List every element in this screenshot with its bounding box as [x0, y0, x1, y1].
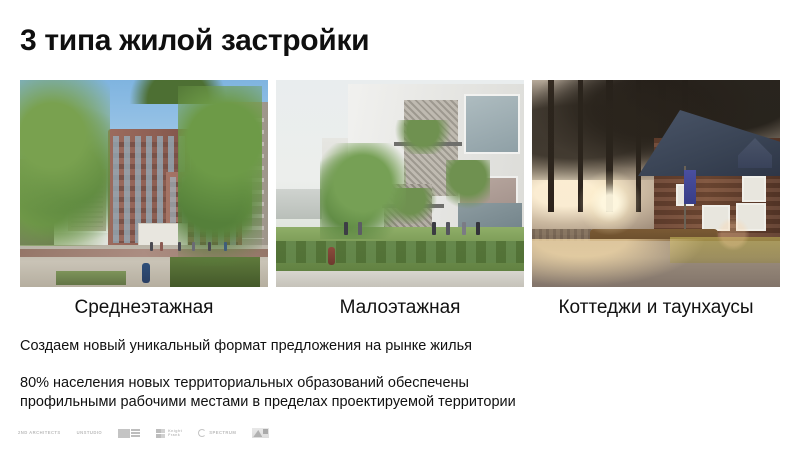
partner-logo-label-line-2: Frank: [168, 433, 182, 438]
partner-logo-knight-frank: Knight Frank: [156, 429, 182, 438]
housing-card-caption: Коттеджи и таунхаусы: [532, 296, 780, 320]
partner-logo-label: SPECTRUM: [209, 430, 236, 436]
housing-card-caption: Среднеэтажная: [20, 296, 268, 320]
partner-logo-strip: 2ND ARCHITECTS UNSTUDIO Knight Frank SPE…: [18, 426, 269, 440]
blocks-mark-icon: [118, 429, 140, 438]
partner-logo-spectrum: SPECTRUM: [198, 429, 236, 437]
sunlight-on-road: [532, 239, 706, 287]
housing-card-low-rise[interactable]: Малоэтажная: [276, 80, 524, 320]
housing-photo-cottages: [532, 80, 780, 287]
partner-logo-dark-square: [252, 428, 269, 438]
partner-logo-label: 2ND ARCHITECTS: [18, 430, 61, 436]
page-title: 3 типа жилой застройки: [20, 22, 369, 60]
dark-square-mark-icon: [252, 428, 269, 438]
body-lead-paragraph: Создаем новый уникальный формат предложе…: [20, 337, 720, 356]
pedestrian: [446, 222, 450, 235]
cottage-window: [742, 176, 766, 202]
pedestrian: [208, 242, 211, 251]
partner-logo-unstudio: UNSTUDIO: [77, 430, 102, 436]
tree-left: [20, 80, 110, 246]
pedestrian: [160, 242, 163, 251]
partner-logo-blocks: [118, 429, 140, 438]
pedestrian: [432, 222, 436, 235]
pedestrian: [344, 222, 348, 235]
pedestrian-foreground: [142, 263, 150, 283]
pedestrian: [192, 242, 195, 251]
sun-flare: [578, 171, 642, 235]
knight-frank-mark-icon: [156, 429, 165, 438]
pedestrian: [462, 222, 466, 235]
body-paragraph-line-1: 80% населения новых территориальных обра…: [20, 374, 720, 393]
balcony-planting: [446, 160, 490, 216]
slide-root: 3 типа жилой застройки: [0, 0, 800, 450]
lens-flare: [716, 217, 750, 251]
body-text-block: Создаем новый уникальный формат предложе…: [20, 337, 720, 412]
tree-right: [178, 86, 262, 266]
housing-card-cottages[interactable]: Коттеджи и таунхаусы: [532, 80, 780, 320]
low-wall: [276, 271, 524, 287]
courtyard-tree: [320, 143, 406, 239]
flag: [684, 170, 696, 204]
window-upper: [464, 94, 520, 154]
housing-card-caption: Малоэтажная: [276, 296, 524, 320]
housing-photo-mid-rise: [20, 80, 268, 287]
spectrum-mark-icon: [198, 429, 206, 437]
pedestrian: [476, 222, 480, 235]
body-paragraph-line-2: профильными рабочими местами в пределах …: [20, 393, 720, 412]
pedestrian-foreground: [328, 247, 335, 265]
shrub-band: [276, 241, 524, 263]
housing-photo-low-rise: [276, 80, 524, 287]
partner-logo-2nd-architects: 2ND ARCHITECTS: [18, 430, 61, 436]
pedestrian: [224, 242, 227, 251]
plaza-planting: [56, 271, 126, 285]
pedestrian: [358, 222, 362, 235]
housing-type-cards: Среднеэтажная: [20, 80, 780, 320]
partner-logo-label: UNSTUDIO: [77, 430, 102, 436]
pedestrian: [150, 242, 153, 251]
housing-card-mid-rise[interactable]: Среднеэтажная: [20, 80, 268, 320]
pedestrian: [178, 242, 181, 251]
